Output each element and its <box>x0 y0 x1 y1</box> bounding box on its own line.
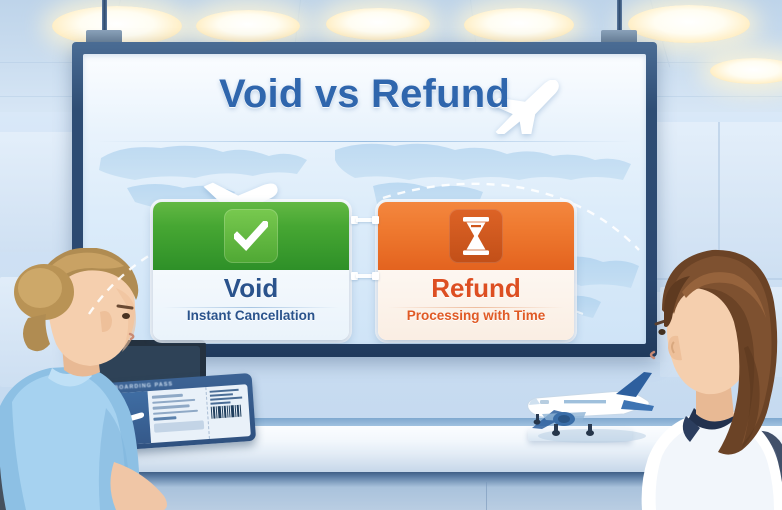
connector <box>351 216 379 316</box>
card-void-title: Void <box>153 270 349 302</box>
whiteboard-frame: Void vs Refund Void <box>72 42 657 357</box>
card-void-subtitle: Instant Cancellation <box>153 308 349 323</box>
scene-root: Void vs Refund Void <box>0 0 782 510</box>
card-refund-subtitle: Processing with Time <box>378 308 574 323</box>
connector-cap <box>372 216 379 224</box>
card-void[interactable]: Void Instant Cancellation <box>153 202 349 340</box>
card-void-body: Void Instant Cancellation <box>153 270 349 340</box>
ceiling-light <box>326 8 430 40</box>
comparison-cards: Void Instant Cancellation <box>83 202 646 344</box>
title-divider <box>97 141 632 142</box>
connector-cap <box>372 272 379 280</box>
card-refund-title: Refund <box>378 270 574 302</box>
card-refund-body: Refund Processing with Time <box>378 270 574 340</box>
card-refund-divider <box>388 307 564 308</box>
page-title: Void vs Refund <box>83 54 646 117</box>
whiteboard-face: Void vs Refund Void <box>83 54 646 344</box>
card-refund[interactable]: Refund Processing with Time <box>378 202 574 340</box>
check-icon <box>224 209 278 263</box>
counter-panel-seam <box>486 482 487 510</box>
barcode-icon <box>211 404 247 418</box>
card-void-header <box>153 202 349 270</box>
boarding-pass-barcode-area <box>205 384 251 439</box>
ceiling-light <box>196 10 300 42</box>
ceiling-light <box>464 8 574 42</box>
card-void-divider <box>163 307 339 308</box>
card-refund-header <box>378 202 574 270</box>
ceiling-light <box>628 5 750 43</box>
hourglass-icon <box>449 209 503 263</box>
